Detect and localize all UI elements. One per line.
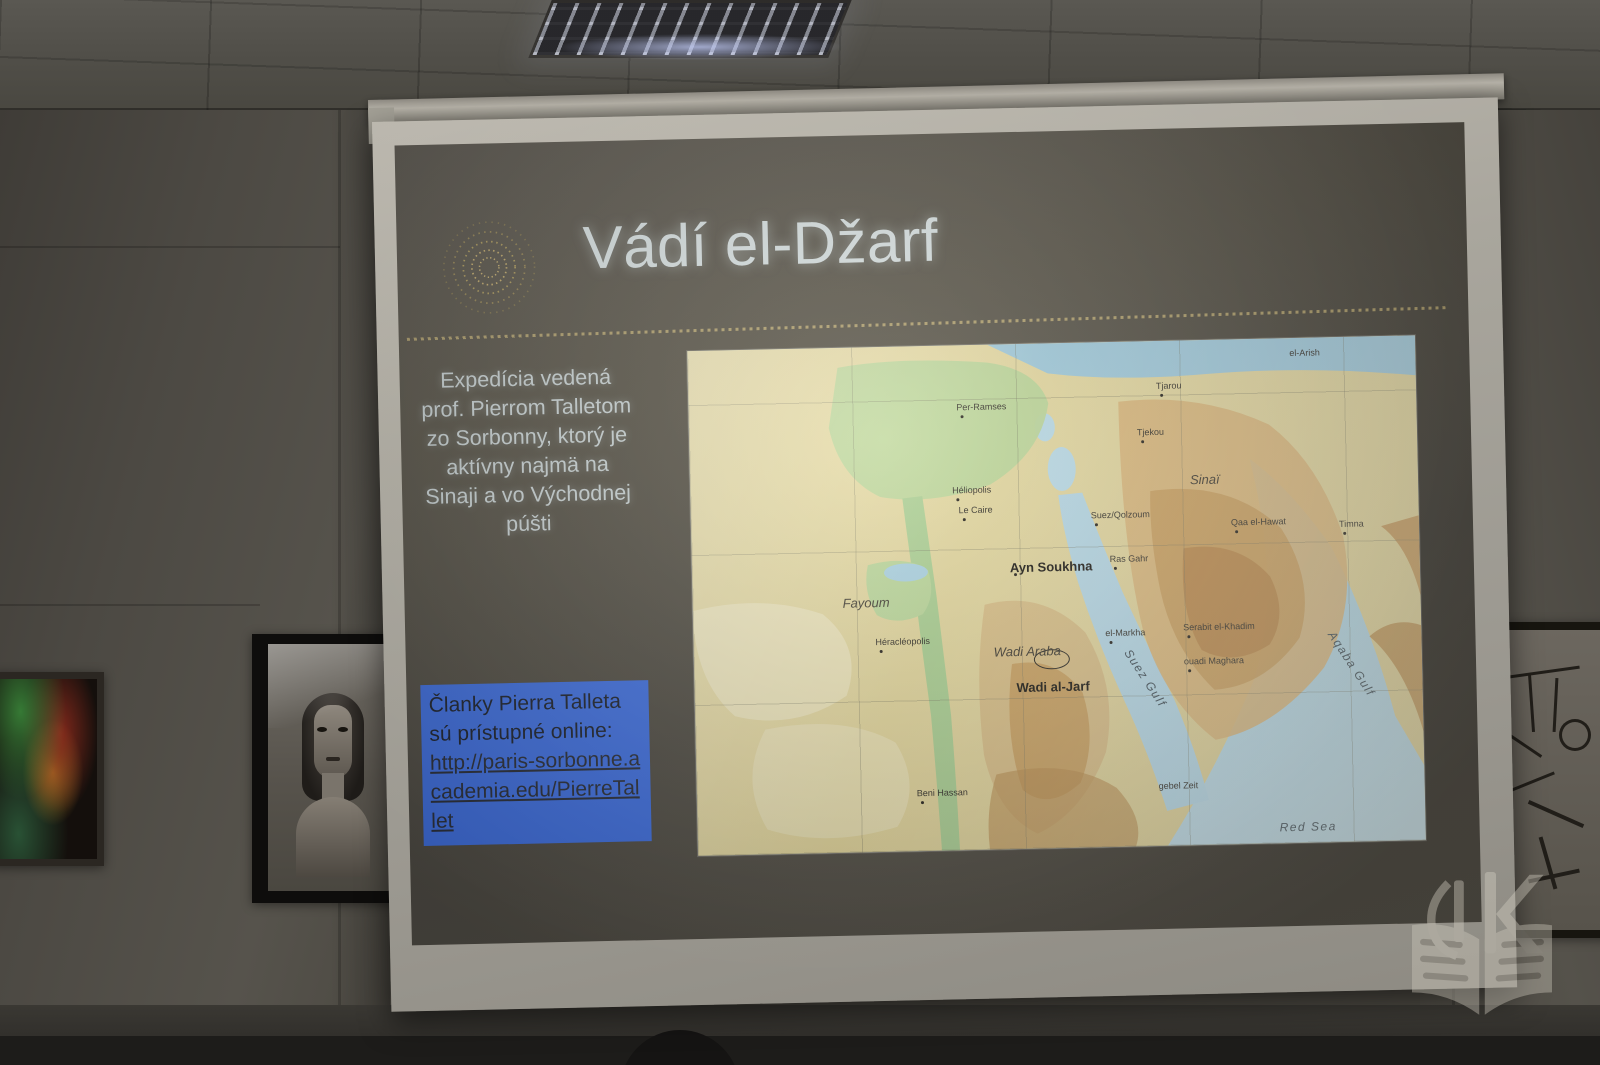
dotted-sun-icon (434, 212, 544, 322)
egypt-sinai-relief-map: el-ArishTjarouPer-RamsesTjekouHéliopolis… (687, 335, 1426, 856)
abstract-painting (0, 672, 104, 866)
presentation-slide: Vádí el-Džarf Expedícia vedená prof. Pie… (395, 122, 1482, 945)
slide-divider (407, 306, 1447, 341)
university-logo-watermark (1398, 858, 1566, 1026)
slide-body-text: Expedícia vedená prof. Pierrom Talletom … (417, 362, 637, 541)
projection-screen[interactable]: Vádí el-Džarf Expedícia vedená prof. Pie… (372, 97, 1517, 1011)
academia-link[interactable]: http://paris-sorbonne.academia.edu/Pierr… (430, 744, 644, 836)
wall-seam (0, 604, 260, 606)
map-projection-sheen (687, 335, 1426, 856)
slide-title: Vádí el-Džarf (582, 196, 1373, 282)
link-highlight-box: Članky Pierra Talleta sú prístupné onlin… (420, 680, 651, 846)
charcoal-portrait-canvas (268, 644, 398, 891)
glass-reflection (268, 644, 398, 728)
lecture-room-scene: Vádí el-Džarf Expedícia vedená prof. Pie… (0, 0, 1600, 1065)
baseboard (0, 1036, 1600, 1065)
light-glow (555, 34, 846, 60)
link-lead-text: Članky Pierra Talleta sú prístupné onlin… (428, 690, 621, 746)
wall-seam (0, 246, 340, 248)
abstract-painting-canvas (0, 679, 97, 859)
